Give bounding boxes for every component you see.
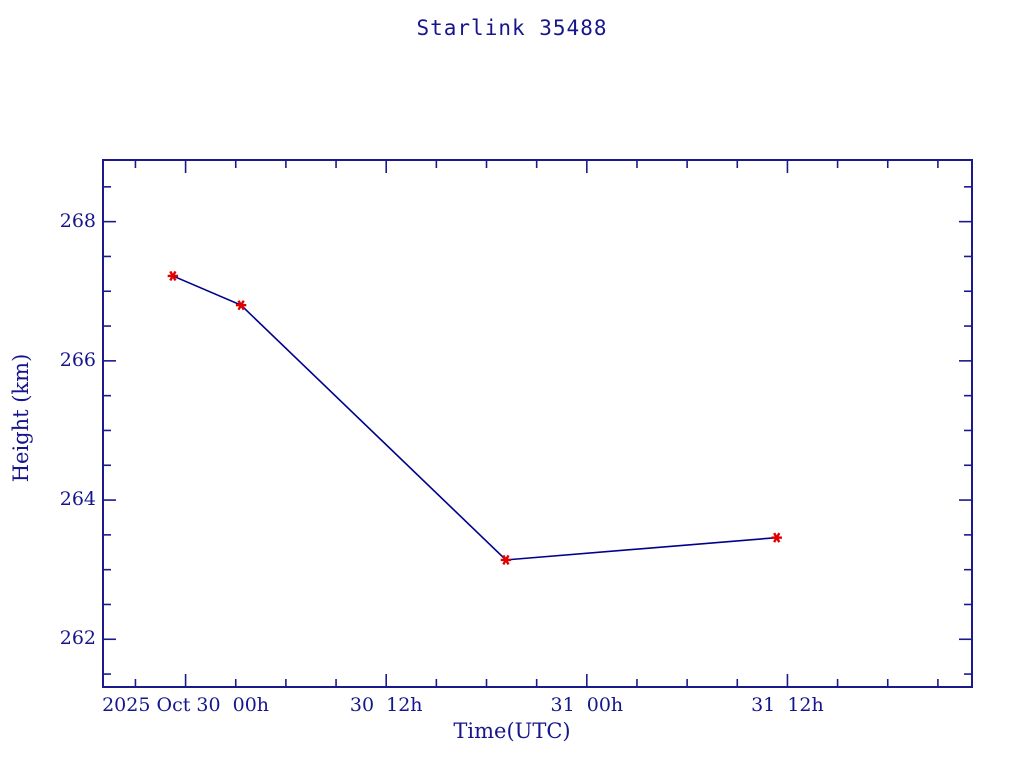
x-axis-title: Time(UTC): [0, 719, 1024, 743]
y-tick-label: 262: [34, 627, 96, 649]
y-tick-label: 266: [34, 349, 96, 371]
chart-title: Starlink 35488: [0, 16, 1024, 40]
plot-area: [102, 159, 973, 688]
x-tick-label: 31 12h: [751, 694, 824, 716]
y-axis-title: Height (km): [9, 318, 33, 518]
x-tick-label: 31 00h: [550, 694, 623, 716]
y-tick-label: 268: [34, 210, 96, 232]
y-tick-label: 264: [34, 488, 96, 510]
chart-page: Starlink 35488 268266264262 2025 Oct 30 …: [0, 0, 1024, 768]
x-tick-label: 2025 Oct 30 00h: [102, 694, 269, 716]
x-tick-label: 30 12h: [350, 694, 423, 716]
